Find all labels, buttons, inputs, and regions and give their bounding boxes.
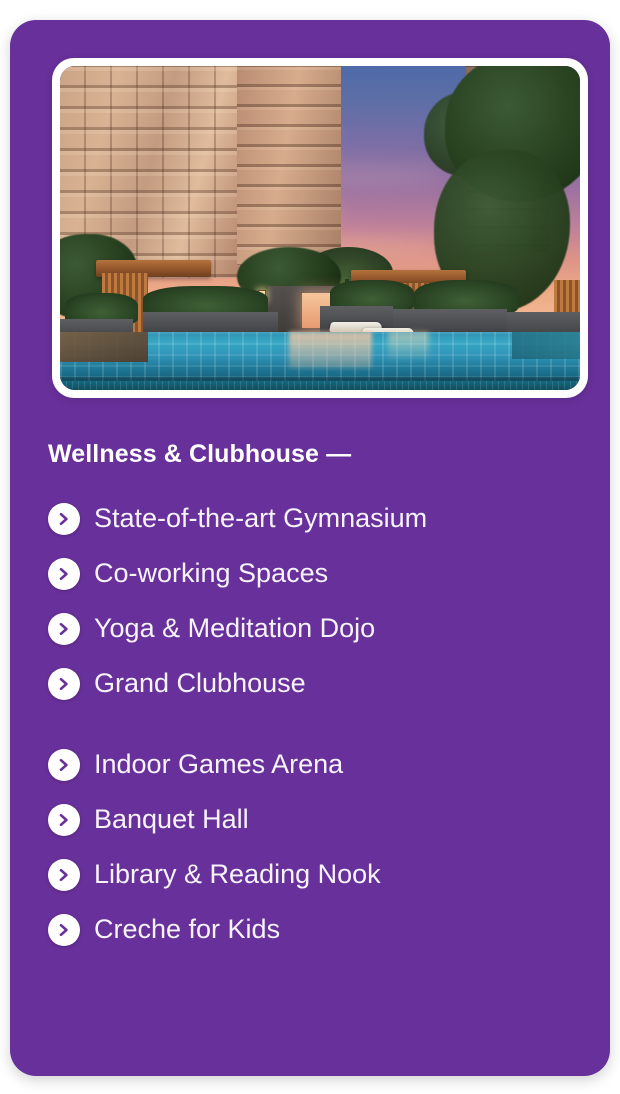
- list-item-label: Grand Clubhouse: [94, 669, 306, 699]
- list-item[interactable]: Creche for Kids: [48, 914, 580, 946]
- list-item-label: Creche for Kids: [94, 915, 280, 945]
- pool-deck-right: [512, 332, 580, 359]
- list-item[interactable]: Grand Clubhouse: [48, 668, 580, 700]
- amenities-content: Wellness & Clubhouse — State-of-the-art …: [48, 440, 580, 969]
- list-item[interactable]: Banquet Hall: [48, 804, 580, 836]
- group-separator: [48, 723, 580, 749]
- section-title: Wellness & Clubhouse —: [48, 440, 580, 469]
- feature-group: Indoor Games Arena Banquet Hall: [48, 749, 580, 946]
- chevron-right-circle-icon: [48, 613, 80, 645]
- list-item[interactable]: Library & Reading Nook: [48, 859, 580, 891]
- amenities-card: Wellness & Clubhouse — State-of-the-art …: [10, 20, 610, 1076]
- chevron-right-circle-icon: [48, 558, 80, 590]
- list-item[interactable]: Yoga & Meditation Dojo: [48, 613, 580, 645]
- list-item-label: State-of-the-art Gymnasium: [94, 504, 427, 534]
- chevron-right-circle-icon: [48, 859, 80, 891]
- residential-tower-middle: [237, 66, 341, 265]
- list-item[interactable]: Co-working Spaces: [48, 558, 580, 590]
- hero-image: [60, 66, 580, 390]
- list-item-label: Library & Reading Nook: [94, 860, 381, 890]
- pool-deck-left: [60, 332, 148, 362]
- list-item-label: Co-working Spaces: [94, 559, 328, 589]
- feature-group: State-of-the-art Gymnasium Co-working Sp…: [48, 503, 580, 700]
- pool-foreground-water: [60, 381, 580, 390]
- pool-reflection: [388, 332, 430, 360]
- hero-image-frame: [52, 58, 588, 398]
- list-item[interactable]: Indoor Games Arena: [48, 749, 580, 781]
- list-item-label: Indoor Games Arena: [94, 750, 343, 780]
- chevron-right-circle-icon: [48, 804, 80, 836]
- chevron-right-circle-icon: [48, 914, 80, 946]
- page-root: Wellness & Clubhouse — State-of-the-art …: [0, 0, 620, 1094]
- chevron-right-circle-icon: [48, 503, 80, 535]
- list-item[interactable]: State-of-the-art Gymnasium: [48, 503, 580, 535]
- pool-reflection: [289, 332, 372, 368]
- chevron-right-circle-icon: [48, 668, 80, 700]
- list-item-label: Yoga & Meditation Dojo: [94, 614, 375, 644]
- list-item-label: Banquet Hall: [94, 805, 249, 835]
- swimming-pool: [60, 332, 580, 390]
- chevron-right-circle-icon: [48, 749, 80, 781]
